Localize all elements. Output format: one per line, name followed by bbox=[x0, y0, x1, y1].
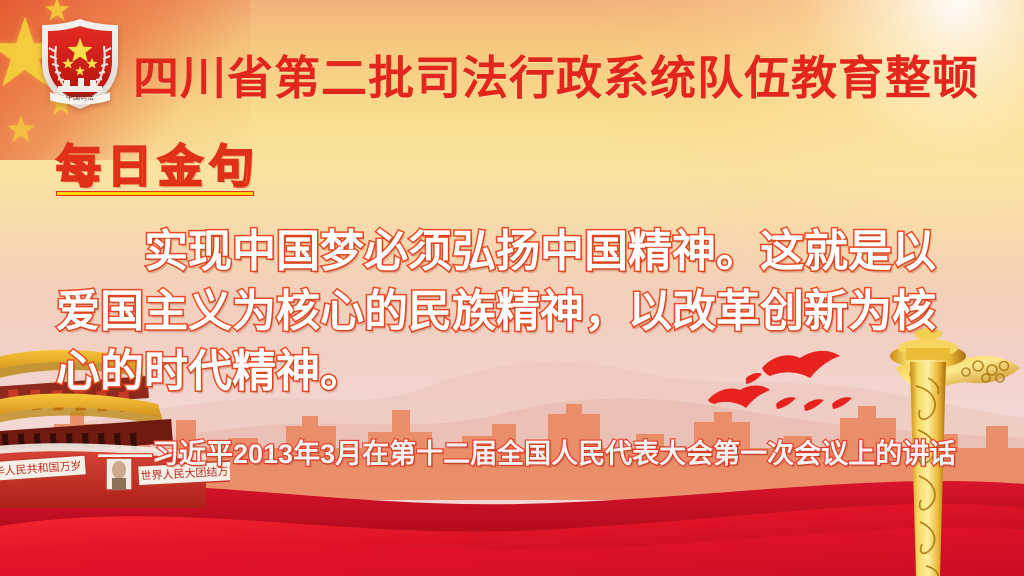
poster-canvas: ★ ★ ★ ★ ★ bbox=[0, 0, 1024, 576]
section-label-group: 每日金句 bbox=[56, 143, 260, 196]
red-silk-ribbon-icon bbox=[0, 464, 1024, 576]
quote-attribution: ——习近平2013年3月在第十二届全国人民代表大会第一次会议上的讲话 bbox=[98, 432, 1018, 471]
china-judicial-emblem-icon: 中国司法 bbox=[34, 16, 126, 112]
page-title: 四川省第二批司法行政系统队伍教育整顿 bbox=[133, 42, 979, 108]
emblem-caption: 中国司法 bbox=[66, 93, 94, 102]
quote-text: 实现中国梦必须弘扬中国精神。这就是以爱国主义为核心的民族精神，以改革创新为核心的… bbox=[56, 222, 968, 402]
section-label: 每日金句 bbox=[56, 143, 260, 190]
gate-banner-left: 中华人民共和国万岁 bbox=[0, 458, 82, 479]
section-label-underline bbox=[56, 191, 254, 196]
